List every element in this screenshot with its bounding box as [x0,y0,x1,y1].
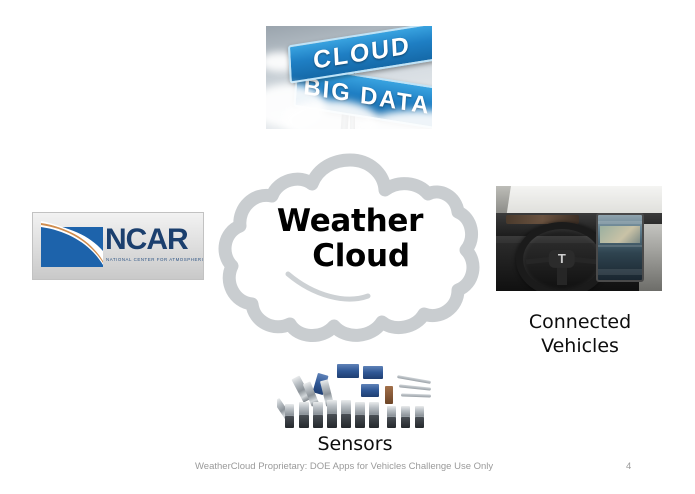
sensors-image [277,362,433,428]
center-touchscreen [596,213,645,282]
sensor-cable [397,375,431,384]
steering-spoke [557,266,566,284]
sensor-body [385,386,393,404]
footer-page-number: 4 [626,461,631,472]
sensor-connector [327,414,337,428]
ncar-swoosh-icon [39,221,105,269]
sensor-connector [313,415,323,428]
sensor-module [337,364,359,378]
tesla-logo-icon: T [558,252,566,265]
weather-cloud-graphic: Weather Cloud [218,146,482,358]
weather-cloud-title: Weather Cloud [218,204,482,273]
connected-vehicles-image: T [496,186,662,291]
screen-status-bar [598,221,643,224]
sensor-connector [299,415,309,428]
sensor-connector [355,415,365,428]
ncar-wordmark: NCAR [105,225,188,255]
cloud-big-data-image: BIG DATA CLOUD [266,26,432,129]
ncar-logo: NCAR NATIONAL CENTER FOR ATMOSPHERIC RES… [32,212,204,280]
sensor-connector [401,417,410,428]
weather-cloud-title-line2: Cloud [218,239,482,274]
sensor-module [363,366,383,379]
ncar-tagline: NATIONAL CENTER FOR ATMOSPHERIC RESEARCH [106,257,204,262]
slide-canvas: BIG DATA CLOUD NCAR NATIONAL CENTER FOR … [0,0,695,494]
connected-vehicles-label-line1: Connected [492,311,668,335]
connected-vehicles-label-line2: Vehicles [492,335,668,359]
sensor-connector [387,417,396,428]
sensor-connector [341,414,351,428]
connected-vehicles-label: Connected Vehicles [492,311,668,359]
sensor-cable [399,384,431,390]
steering-wheel: T [516,222,608,291]
steering-hub: T [549,250,576,268]
screen-divider [598,245,643,247]
sensor-module [361,384,379,397]
screen-map-panel [600,226,639,243]
sensor-connector [369,415,379,428]
sensor-connector [285,416,294,428]
screen-control-bar [598,269,643,275]
footer-proprietary-notice: WeatherCloud Proprietary: DOE Apps for V… [195,461,493,472]
sensor-connector [415,417,424,428]
sensors-label: Sensors [277,433,433,457]
sensor-cable [401,393,431,397]
weather-cloud-title-line1: Weather [277,203,423,239]
